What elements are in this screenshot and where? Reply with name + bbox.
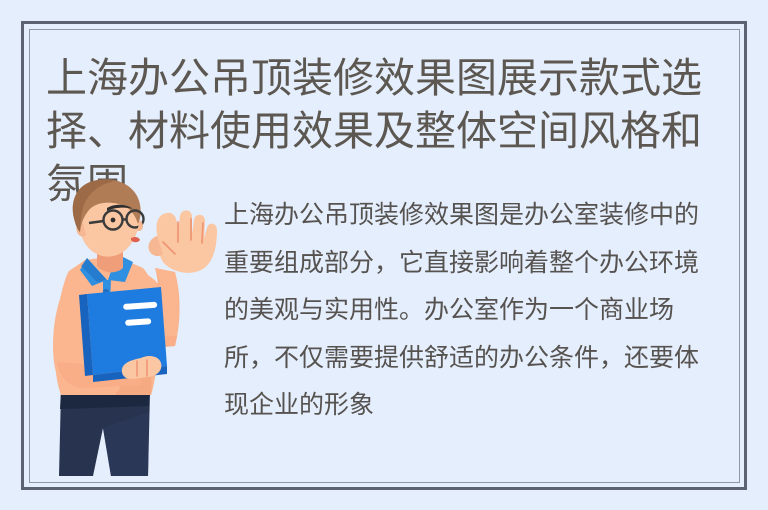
hero-illustration xyxy=(45,176,230,486)
illustration-head xyxy=(73,179,144,272)
article-body-paragraph: 上海办公吊顶装修效果图是办公室装修中的重要组成部分，它直接影响着整个办公环境的美… xyxy=(224,192,710,430)
illustration-pants xyxy=(59,391,150,476)
poster-canvas: 上海办公吊顶装修效果图展示款式选择、材料使用效果及整体空间风格和氛围 上海办公吊… xyxy=(0,0,768,510)
